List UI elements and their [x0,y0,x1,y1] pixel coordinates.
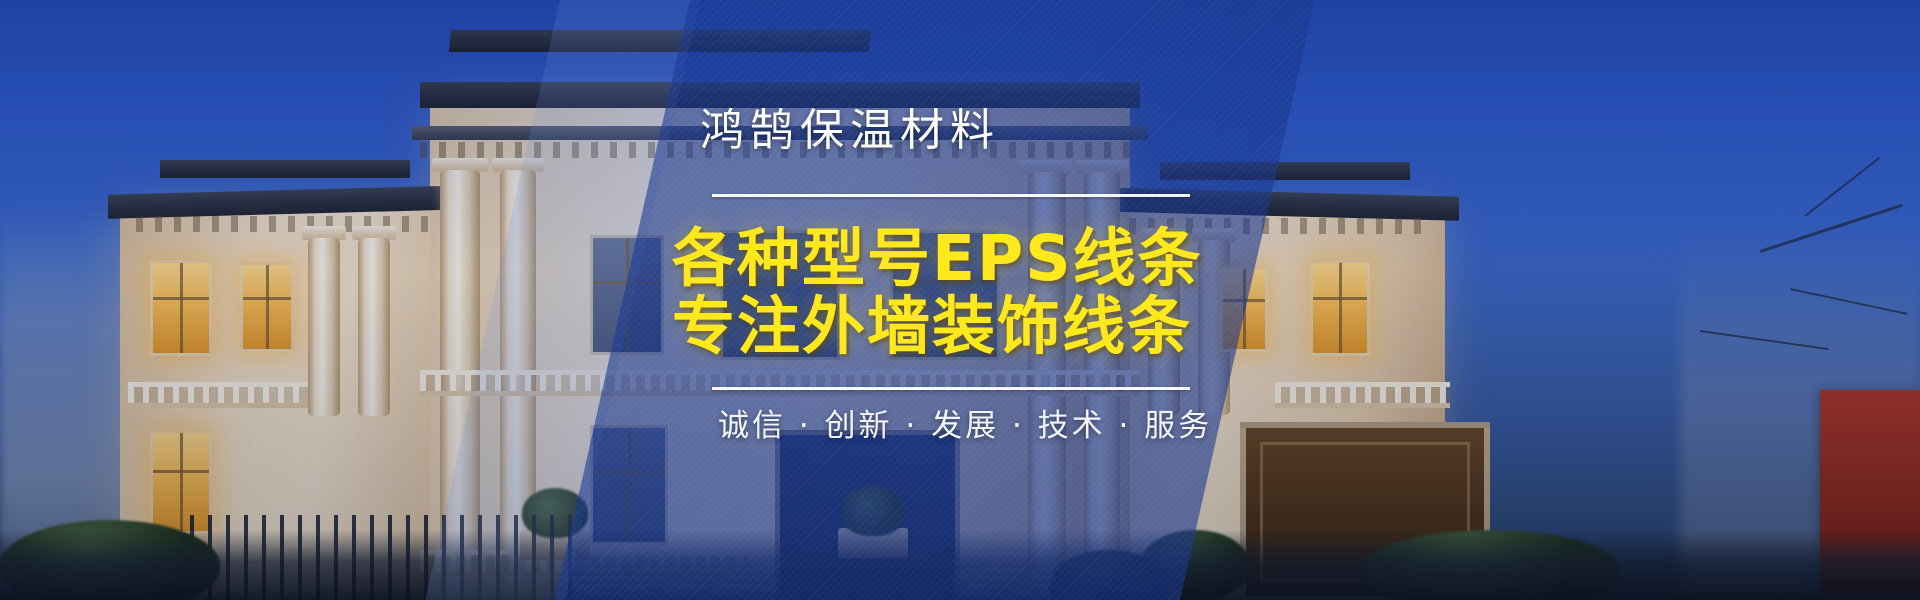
banner-content: 鸿鹄保温材料 各种型号EPS线条 专注外墙装饰线条 诚信 · 创新 · 发展 ·… [0,0,1920,600]
divider-top [712,194,1190,197]
promotional-banner: 鸿鹄保温材料 各种型号EPS线条 专注外墙装饰线条 诚信 · 创新 · 发展 ·… [0,0,1920,600]
brand-name: 鸿鹄保温材料 [700,104,1000,158]
tagline: 诚信 · 创新 · 发展 · 技术 · 服务 [718,404,1212,448]
headline-line-2: 专注外墙装饰线条 [672,294,1192,360]
headline-line-1: 各种型号EPS线条 [672,226,1203,292]
divider-bottom [712,387,1190,390]
